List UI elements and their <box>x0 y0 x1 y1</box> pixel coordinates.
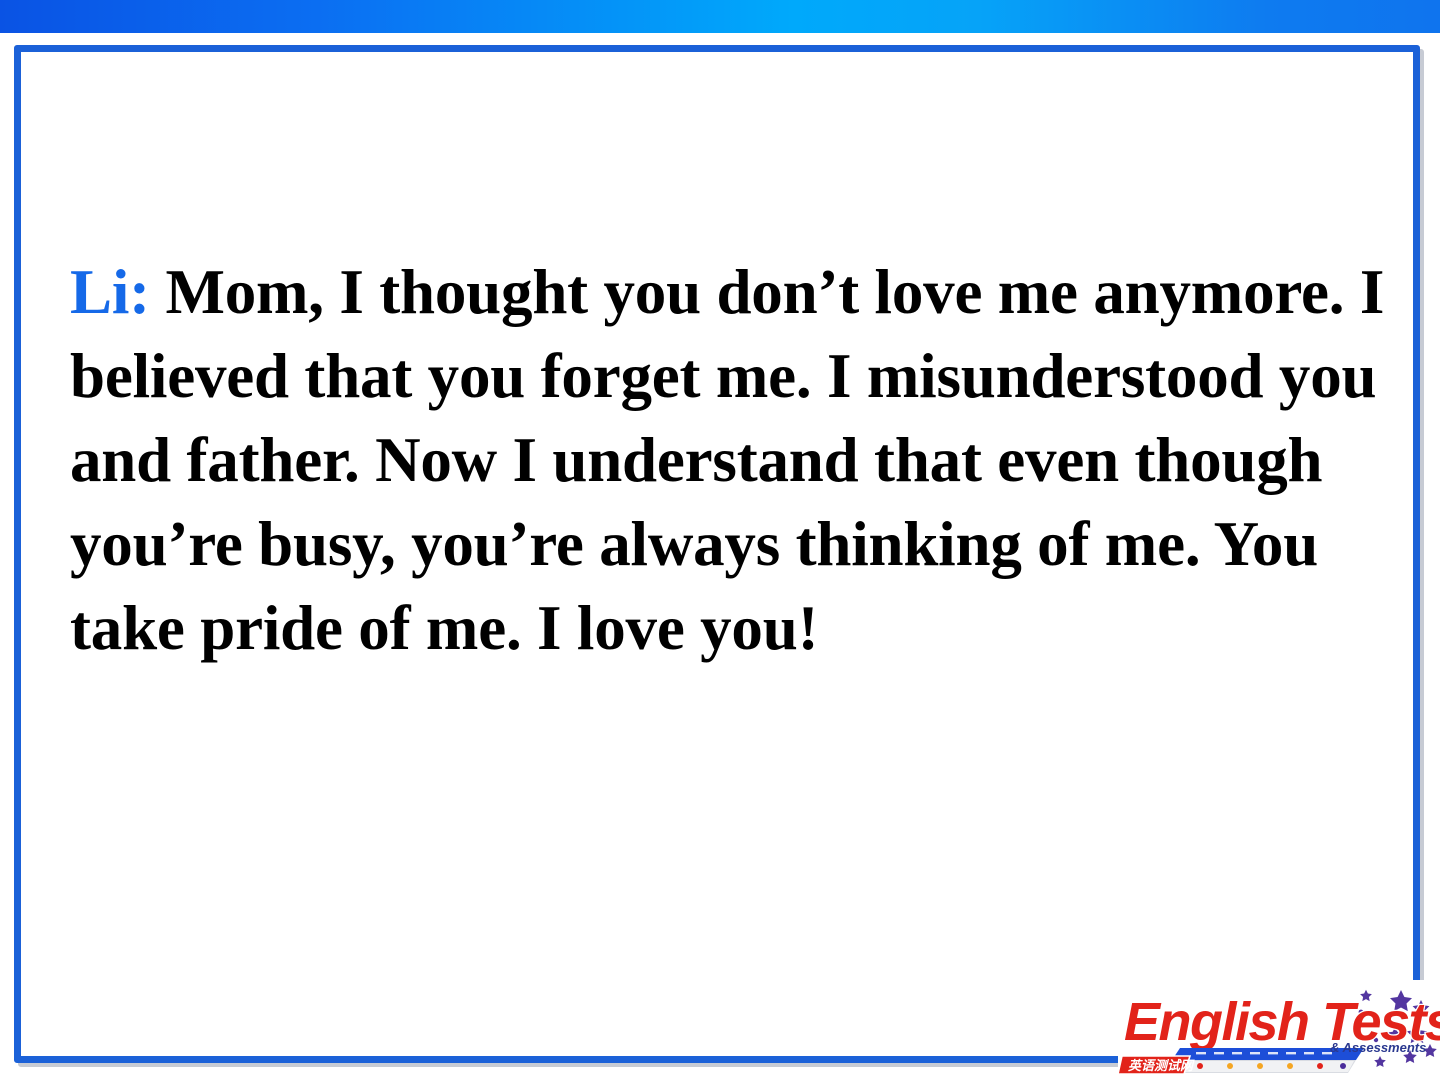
top-gradient-bar <box>0 0 1440 33</box>
dialogue-text: Li: Mom, I thought you don’t love me any… <box>70 250 1390 670</box>
dialogue-body: Mom, I thought you don’t love me anymore… <box>70 257 1384 663</box>
logo-subtitle: & Assessments <box>1330 1040 1426 1055</box>
english-tests-logo[interactable]: English Tests & Assessments <box>1118 978 1440 1080</box>
speaker-label: Li: <box>70 257 150 327</box>
logo-badge-text: 英语测试网 <box>1127 1058 1195 1074</box>
logo-chinese-badge: 英语测试网 <box>1118 1056 1195 1074</box>
slide: Li: Mom, I thought you don’t love me any… <box>0 0 1440 1080</box>
